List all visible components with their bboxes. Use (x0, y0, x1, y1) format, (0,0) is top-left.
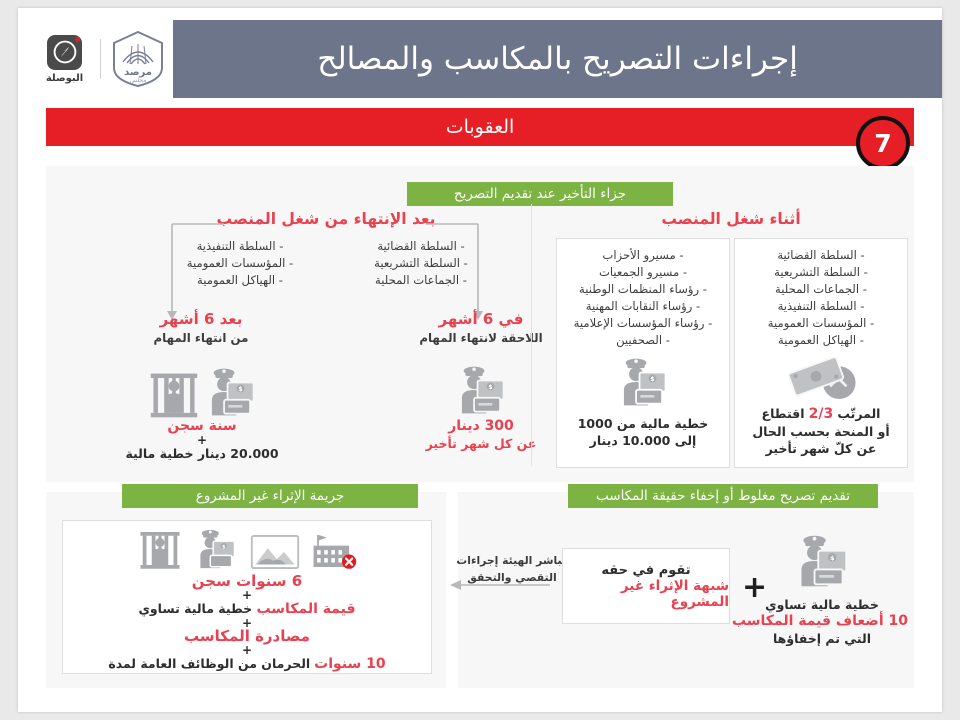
logo-divider (100, 39, 101, 79)
prison-icon (149, 370, 199, 420)
bawsala-logo: البوصلة (39, 30, 91, 88)
list-item: - الهياكل العمومية (150, 272, 330, 289)
after-office-list-right: - السلطة القضائية - السلطة التشريعية - ا… (336, 238, 506, 289)
header-bar: إجراءات التصريح بالمكاسب والمصالح (173, 20, 942, 98)
false-caption-line1: خطية مالية تساوي (736, 596, 908, 613)
penalty-2-red: قيمة المكاسب (256, 601, 355, 617)
list-item: - مسيرو الأحزاب (557, 247, 729, 264)
penalty-4-red: 10 سنوات (314, 656, 386, 672)
branch-right-head: في 6 أشهر (386, 310, 576, 329)
svg-text:$: $ (238, 386, 242, 393)
caption-line1: المرتّب 2/3 اقتطاع (735, 405, 907, 423)
caption-line1: خطية مالية من 1000 (557, 415, 729, 432)
caption-fraction: 2/3 (809, 406, 834, 422)
branch-right-caption: 300 دينار عن كل شهر تأخير (386, 418, 576, 452)
branch-left-sub: من انتهاء المهام (106, 330, 296, 346)
caption-line2: إلى 10.000 دينار (557, 432, 729, 449)
branch-left-plus: + (92, 435, 312, 445)
list-item: - السلطة التشريعية (735, 264, 907, 281)
false-caption-line2: 10 أضعاف قيمة المكاسب (736, 613, 908, 630)
section-number-badge: 7 (856, 116, 910, 170)
list-item: - رؤساء المنظمات الوطنية (557, 281, 729, 298)
during-office-box-right: - السلطة القضائية - السلطة التشريعية - ا… (734, 238, 908, 468)
svg-text:$: $ (650, 376, 654, 383)
caption-line2: أو المنحة بحسب الحال (735, 423, 907, 440)
during-office-title: أثناء شغل المنصب (551, 210, 911, 228)
infographic-page: مرصد مجلس البوصلة إجراءات التصريح ب (18, 8, 942, 712)
penalty-4: 10 سنوات الحرمان من الوظائف العامة لمدة (63, 655, 431, 673)
list-item: - المؤسسات العمومية (150, 255, 330, 272)
panel-divider (531, 204, 532, 466)
investigation-line1: تباشر الهيئة إجراءات (458, 552, 566, 569)
after-office-list-left: - السلطة التنفيذية - المؤسسات العمومية -… (150, 238, 330, 289)
compass-icon (47, 35, 82, 70)
branch-right-caption-line2: عن كل شهر تأخير (386, 435, 576, 452)
false-declaration-header: تقديم تصريح مغلوط أو إخفاء حقيقة المكاسب (568, 484, 878, 508)
list-item: - رؤساء النقابات المهنية (557, 298, 729, 315)
list-item: - السلطة التنفيذية (150, 238, 330, 255)
marsad-icon: مرصد مجلس (110, 30, 166, 88)
marsad-logo: مرصد مجلس (110, 30, 166, 88)
list-item: - السلطة التنفيذية (735, 298, 907, 315)
branch-left-icons: $ (128, 358, 278, 420)
bawsala-label: البوصلة (46, 73, 83, 84)
officer-money-icon: $ (205, 364, 257, 420)
during-office-caption-right: المرتّب 2/3 اقتطاع أو المنحة بحسب الحال … (735, 405, 907, 457)
branch-left-head: بعد 6 أشهر (106, 310, 296, 329)
illicit-icons: $ (103, 527, 393, 571)
delay-penalty-panel: جزاء التأخير عند تقديم التصريح بعد الإنت… (46, 166, 914, 482)
list-item: - المؤسسات العمومية (735, 315, 907, 332)
list-item: - الجماعات المحلية (336, 272, 506, 289)
page-title: إجراءات التصريح بالمكاسب والمصالح (317, 41, 798, 77)
penalty-plus-3: + (63, 645, 431, 655)
suspect-box: تقوم في حقه شبهة الإثراء غير المشروع (562, 548, 730, 624)
list-item: - السلطة القضائية (735, 247, 907, 264)
band-title: العقوبات (446, 116, 515, 138)
penalty-2-dark: خطية مالية تساوي (138, 601, 252, 616)
svg-text:$: $ (830, 554, 835, 562)
svg-text:$: $ (488, 384, 492, 391)
penalty-plus-1: + (63, 590, 431, 600)
list-item: - السلطة التشريعية (336, 255, 506, 272)
list-item: - الهياكل العمومية (735, 332, 907, 349)
branch-right-icons: $ (431, 358, 531, 418)
svg-text:$: $ (222, 544, 226, 550)
branch-left-caption-line2: 20.000 دينار خطية مالية (92, 445, 312, 462)
illicit-enrichment-panel: جريمة الإثراء غير المشروع (46, 492, 446, 688)
building-x-icon (310, 531, 358, 571)
investigation-text: تباشر الهيئة إجراءات التقصي والتحقق (458, 552, 566, 586)
officer-money-icon: $ (794, 532, 850, 590)
branch-right-sub: اللاحقة لانتهاء المهام (386, 330, 576, 346)
false-declaration-caption: خطية مالية تساوي 10 أضعاف قيمة المكاسب ا… (736, 596, 908, 647)
list-item: - السلطة القضائية (336, 238, 506, 255)
marsad-subword: مجلس (129, 77, 146, 84)
prison-icon (138, 529, 182, 571)
during-office-caption-left: خطية مالية من 1000 إلى 10.000 دينار (557, 415, 729, 449)
branch-left-caption: سنة سجن + 20.000 دينار خطية مالية (92, 418, 312, 462)
compass-needle-icon (52, 39, 78, 65)
compass-dot-icon (75, 37, 80, 42)
officer-money-icon: $ (455, 362, 507, 418)
penalty-4-dark: الحرمان من الوظائف العامة لمدة (108, 656, 310, 671)
caption-suffix: المرتّب (837, 406, 880, 421)
illicit-penalties-box: $ 6 سنوات (62, 520, 432, 674)
money-wallet-icon (783, 357, 861, 403)
list-item: - الجماعات المحلية (735, 281, 907, 298)
illicit-enrichment-header: جريمة الإثراء غير المشروع (122, 484, 418, 508)
investigation-line2: التقصي والتحقق (458, 569, 566, 586)
delay-penalty-header: جزاء التأخير عند تقديم التصريح (407, 182, 673, 206)
illicit-penalty-list: 6 سنوات سجن + قيمة المكاسب خطية مالية تس… (63, 573, 431, 673)
during-office-list-left: - مسيرو الأحزاب - مسيرو الجمعيات - رؤساء… (557, 247, 729, 349)
list-item: - الصحفيين (557, 332, 729, 349)
property-photo-icon (250, 533, 300, 571)
officer-money-icon: $ (192, 527, 240, 571)
caption-prefix: اقتطاع (762, 406, 805, 421)
section-band: العقوبات (46, 108, 914, 146)
branch-right-caption-line1: 300 دينار (386, 418, 576, 435)
caption-line3: عن كلّ شهر تأخير (735, 440, 907, 457)
officer-money-icon: $ (617, 355, 669, 409)
header: مرصد مجلس البوصلة إجراءات التصريح ب (18, 20, 942, 98)
suspect-line1: تقوم في حقه (601, 563, 690, 578)
list-item: - مسيرو الجمعيات (557, 264, 729, 281)
false-caption-line3: التي تم إخفاؤها (736, 630, 908, 647)
suspect-line2: شبهة الإثراء غير المشروع (563, 578, 729, 610)
during-office-list-right: - السلطة القضائية - السلطة التشريعية - ا… (735, 247, 907, 349)
logo-group: مرصد مجلس البوصلة (32, 26, 172, 92)
list-item: - رؤساء المؤسسات الإعلامية (557, 315, 729, 332)
false-declaration-panel: تقديم تصريح مغلوط أو إخفاء حقيقة المكاسب… (458, 492, 914, 688)
during-office-box-left: - مسيرو الأحزاب - مسيرو الجمعيات - رؤساء… (556, 238, 730, 468)
